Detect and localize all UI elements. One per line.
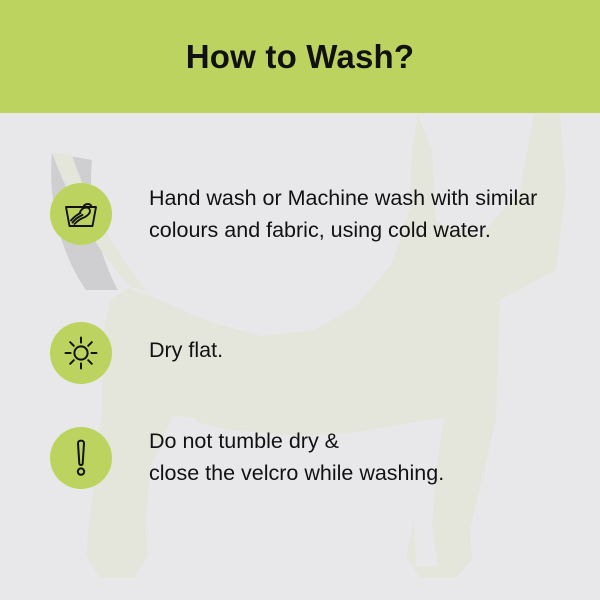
instruction-text-hand-wash: Hand wash or Machine wash with similar c… <box>149 181 549 246</box>
sun-icon <box>62 334 100 372</box>
instruction-text-warning: Do not tumble dry & close the velcro whi… <box>149 425 444 489</box>
instruction-item-hand-wash: Hand wash or Machine wash with similar c… <box>50 181 560 246</box>
hand-wash-icon <box>61 196 101 232</box>
instruction-text-dry-flat: Dry flat. <box>149 320 223 366</box>
instruction-item-dry-flat: Dry flat. <box>50 320 560 384</box>
hand-wash-badge <box>50 183 112 245</box>
care-instructions-card: How to Wash? <box>0 0 600 600</box>
exclamation-icon <box>70 439 92 477</box>
instruction-list: Hand wash or Machine wash with similar c… <box>0 113 600 600</box>
page-title: How to Wash? <box>186 40 415 73</box>
instruction-item-warning: Do not tumble dry & close the velcro whi… <box>50 425 560 489</box>
header-banner: How to Wash? <box>0 0 600 113</box>
dry-flat-badge <box>50 322 112 384</box>
warning-badge <box>50 427 112 489</box>
